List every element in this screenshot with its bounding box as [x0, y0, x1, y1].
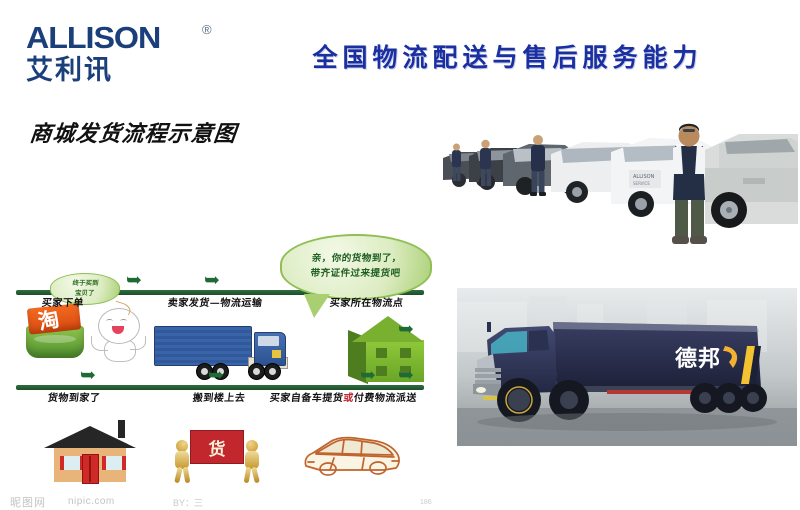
- baby-eye-right: [120, 319, 127, 323]
- home-door: [82, 454, 99, 484]
- home-window: [60, 456, 84, 470]
- flow-label-pickup-or-delivery: 买家自备车提货或付费物流派送: [269, 389, 418, 404]
- mover-body: [175, 451, 189, 469]
- registered-trademark-icon: ®: [202, 22, 212, 37]
- happy-line-1: 终于买到: [72, 279, 99, 289]
- slide-root: ALLISON ® 艾利讯 全国物流配送与售后服务能力 商城发货流程示意图 亲，…: [0, 0, 800, 450]
- svg-text:SERVICE: SERVICE: [633, 181, 650, 186]
- car-sketch-svg: [300, 430, 404, 482]
- label-part-1: 买家自备车提货: [269, 393, 344, 404]
- logistics-notice-bubble: 亲，你的货物到了， 带齐证件过来提货吧: [280, 234, 432, 300]
- svg-text:ALLISON: ALLISON: [633, 174, 655, 180]
- flow-arrow-1: ➥: [126, 271, 142, 290]
- truck-window: [258, 336, 279, 346]
- green-house-window: [376, 366, 387, 376]
- logistics-notice-text: 亲，你的货物到了， 带齐证件过来提货吧: [310, 252, 403, 281]
- flow-arrow-5: ➥: [208, 366, 224, 385]
- notice-line-1: 亲，你的货物到了，: [311, 252, 402, 267]
- cartoon-buyer-icon: [90, 306, 146, 362]
- truck-step: [272, 350, 281, 358]
- home-window: [102, 456, 126, 470]
- flow-label-logistics-point: 买家所在物流点: [329, 294, 404, 309]
- shipping-flow-diagram: 商城发货流程示意图 亲，你的货物到了， 带齐证件过来提货吧 终于买到 宝贝了 淘: [8, 108, 438, 416]
- watermark-id: 186: [420, 499, 432, 506]
- flow-arrow-3: ➥: [360, 366, 376, 385]
- label-part-2: 付费物流派送: [353, 393, 417, 404]
- watermark-author: BY：三: [173, 496, 203, 509]
- notice-line-2: 带齐证件过来提货吧: [310, 267, 401, 282]
- mover-leg: [183, 467, 191, 484]
- mover-leg: [251, 467, 260, 484]
- watermark-site-en: nipic.com: [68, 496, 115, 507]
- mover-leg: [174, 467, 183, 484]
- flow-arrow-2: ➥: [204, 271, 220, 290]
- cargo-crate: 货: [190, 430, 244, 464]
- green-house-window: [400, 348, 411, 358]
- flow-arrow-6: ➥: [398, 366, 414, 385]
- truck-wheel: [264, 363, 281, 380]
- buyer-car-icon: [300, 430, 404, 482]
- mover-left: [172, 440, 192, 482]
- flow-arrow-4: ➥: [80, 366, 96, 385]
- brand-logo: ALLISON ® 艾利讯: [26, 22, 226, 90]
- truck-trailer: [154, 326, 252, 366]
- green-house-window: [376, 348, 387, 358]
- flow-label-home-arrival: 货物到家了: [47, 389, 101, 404]
- home-roof: [44, 426, 136, 448]
- baby-eye-left: [106, 319, 113, 323]
- logistics-point-house-icon: [346, 316, 432, 386]
- deppon-truck-photo: 德邦: [457, 288, 797, 446]
- truck-brand-text: 德邦: [675, 346, 721, 372]
- flow-label-carry-upstairs: 搬到楼上去: [192, 389, 246, 404]
- buyer-home-icon: [44, 418, 136, 484]
- bubble-tail: [304, 294, 330, 318]
- flow-label-shipment: 卖家发货—物流运输: [167, 294, 263, 309]
- mover-right: [242, 440, 262, 482]
- truck-wheel: [248, 363, 265, 380]
- flow-arrow-7: ➥: [398, 320, 414, 339]
- truck-photo-svg: 德邦: [457, 288, 797, 446]
- watermark-site-cn: 昵图网: [10, 494, 46, 510]
- page-title: 全国物流配送与售后服务能力: [245, 38, 770, 74]
- diagram-title: 商城发货流程示意图: [28, 116, 238, 148]
- cargo-movers-icon: 货: [164, 426, 270, 486]
- service-fleet-photo: ALLISON SERVICE: [443, 112, 798, 270]
- fleet-photo-svg: ALLISON SERVICE: [443, 112, 798, 270]
- taobao-box-icon: 淘: [26, 306, 86, 358]
- flow-label-order: 买家下单: [41, 294, 85, 309]
- mover-leg: [244, 467, 252, 484]
- logo-chinese-text: 艾利讯: [26, 57, 226, 85]
- cargo-crate-label: 货: [191, 431, 243, 463]
